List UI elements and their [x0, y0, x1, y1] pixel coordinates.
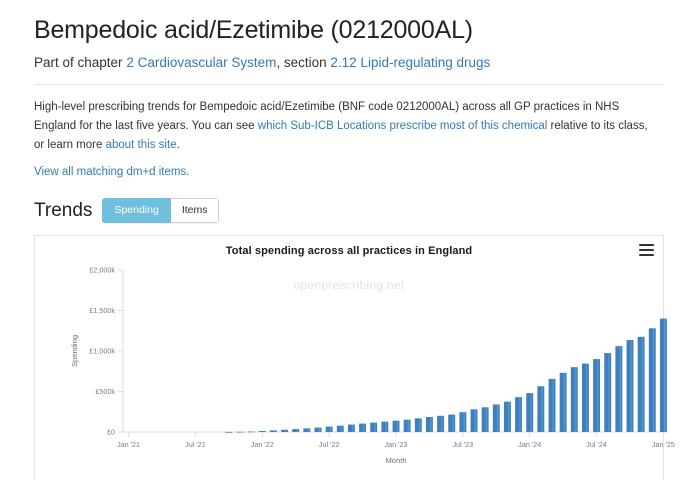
svg-text:£0: £0: [107, 428, 115, 437]
chapter-link[interactable]: 2 Cardiovascular System: [126, 55, 276, 70]
svg-text:Jul '22: Jul '22: [319, 440, 340, 449]
chart-title: Total spending across all practices in E…: [35, 236, 663, 257]
section-link[interactable]: 2.12 Lipid-regulating drugs: [330, 55, 490, 70]
trends-header-row: Trends Spending Items: [34, 198, 664, 224]
svg-text:£2,000k: £2,000k: [89, 266, 115, 275]
spending-bar-chart[interactable]: £0£500k£1,000k£1,500k£2,000kSpendingJan …: [35, 262, 690, 481]
about-this-site-link[interactable]: about this site: [106, 139, 177, 151]
section-prefix-text: , section: [276, 55, 330, 70]
svg-text:£1,500k: £1,500k: [89, 306, 115, 315]
page-container: Bempedoic acid/Ezetimibe (0212000AL) Par…: [0, 0, 690, 435]
intro-paragraph: High-level prescribing trends for Bemped…: [34, 98, 659, 154]
svg-text:£500k: £500k: [95, 387, 115, 396]
svg-text:Jan '25: Jan '25: [652, 440, 675, 449]
svg-text:Jul '23: Jul '23: [453, 440, 474, 449]
svg-text:Jul '24: Jul '24: [586, 440, 607, 449]
chart-card: Total spending across all practices in E…: [34, 235, 664, 480]
breadcrumb: Part of chapter 2 Cardiovascular System,…: [34, 54, 664, 72]
trends-toggle-group[interactable]: Spending Items: [102, 198, 219, 224]
svg-text:Jan '22: Jan '22: [251, 440, 274, 449]
tab-items[interactable]: Items: [171, 198, 220, 224]
header-divider: [34, 84, 664, 85]
sub-icb-locations-link[interactable]: which Sub-ICB Locations prescribe most o…: [258, 120, 548, 132]
plot-area: £0£500k£1,000k£1,500k£2,000kSpendingJan …: [35, 262, 663, 480]
svg-text:Jul '21: Jul '21: [185, 440, 206, 449]
view-dmd-items-link[interactable]: View all matching dm+d items.: [34, 166, 189, 178]
dmd-items-paragraph: View all matching dm+d items.: [34, 163, 664, 182]
svg-text:£1,000k: £1,000k: [89, 347, 115, 356]
svg-text:Jan '24: Jan '24: [518, 440, 541, 449]
hamburger-menu-icon[interactable]: [639, 244, 654, 256]
page-title: Bempedoic acid/Ezetimibe (0212000AL): [34, 16, 664, 45]
intro-text-part3: .: [177, 139, 180, 151]
svg-text:Jan '23: Jan '23: [385, 440, 408, 449]
tab-spending[interactable]: Spending: [102, 198, 170, 224]
svg-text:Spending: Spending: [70, 335, 79, 367]
trends-heading: Trends: [34, 200, 92, 222]
chapter-prefix-text: Part of chapter: [34, 55, 126, 70]
svg-text:Month: Month: [385, 456, 406, 465]
svg-text:Jan '21: Jan '21: [117, 440, 140, 449]
